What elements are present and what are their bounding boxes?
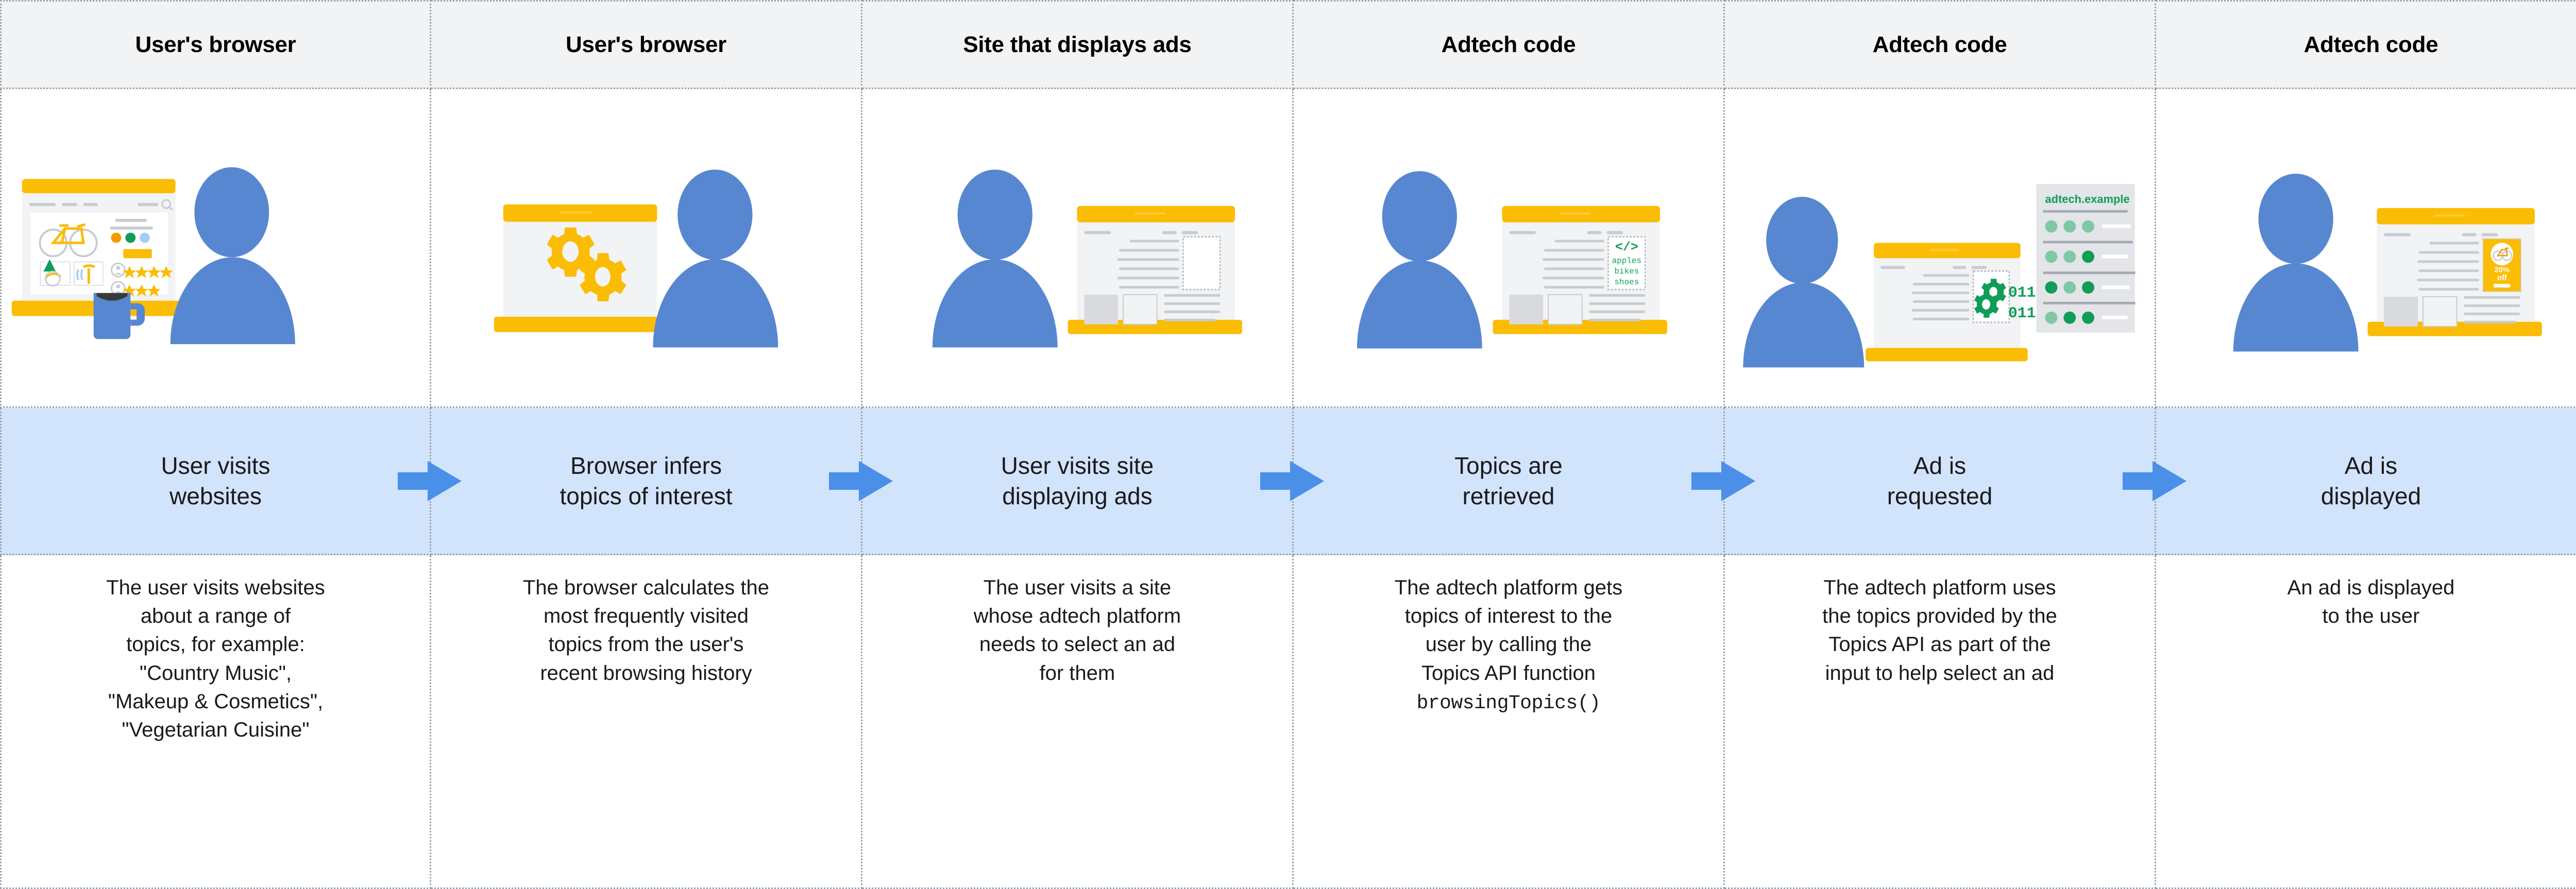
description-cell-step-6: An ad is displayed to the user [2156,555,2576,889]
description-line: whose adtech platform [974,605,1181,627]
band-line: Ad is [1913,452,1966,479]
band-line: topics of interest [560,483,733,509]
ad-headline: 20% [2494,265,2510,274]
header-cell-step-6: Adtech code [2156,0,2576,89]
illustration-cell-step-2 [431,89,862,408]
description-text: The adtech platform gets topics of inter… [1309,574,1708,717]
band-label: User visits site displaying ads [1001,451,1154,511]
band-cell-step-4: Topics are retrieved [1294,408,1725,555]
column-header-label: User's browser [566,32,726,58]
band-label: Ad is displayed [2321,451,2421,511]
description-text: The adtech platform uses the topics prov… [1740,574,2139,688]
description-text: An ad is displayed to the user [2172,574,2570,630]
description-line: most frequently visited [544,605,749,627]
description-line: input to help select an ad [1825,662,2055,685]
band-label: Browser infers topics of interest [560,451,733,511]
column-header-label: Site that displays ads [963,32,1191,58]
band-cell-step-1: User visits websites [0,408,431,555]
header-cell-step-2: User's browser [431,0,862,89]
code-slot-topic: shoes [1615,278,1639,287]
server-panel-title: adtech.example [2045,193,2130,206]
description-line: "Country Music", [140,662,292,685]
description-cell-step-4: The adtech platform gets topics of inter… [1294,555,1725,889]
description-line: the topics provided by the [1822,605,2057,627]
illustration-browser-with-gears-person [431,89,861,406]
description-line: to the user [2322,605,2419,627]
ad-headline: off [2497,273,2507,282]
illustration-person-at-browser-shopping-bicycle [2,89,430,406]
column-header-label: Adtech code [1442,32,1576,58]
header-cell-step-5: Adtech code [1725,0,2156,89]
band-line: Browser infers [570,452,722,479]
description-line: topics, for example: [126,633,305,656]
illustration-cell-step-4: </> apples bikes shoes [1294,89,1725,408]
band-cell-step-6: Ad is displayed [2156,408,2576,555]
band-cell-step-5: Ad is requested [1725,408,2156,555]
code-slot-topic: bikes [1615,267,1639,276]
description-line: "Makeup & Cosmetics", [108,690,323,713]
header-cell-step-1: User's browser [0,0,431,89]
band-line: displayed [2321,483,2421,509]
column-header-label: Adtech code [1873,32,2007,58]
person-silhouette [1743,197,1864,367]
band-label: Ad is requested [1887,451,1993,511]
band-line: Ad is [2345,452,2397,479]
band-line: User visits site [1001,452,1154,479]
description-line: topics from the user's [549,633,744,656]
description-text: The user visits a site whose adtech plat… [878,574,1277,688]
illustration-cell-step-1 [0,89,431,408]
description-line: user by calling the [1426,633,1591,656]
description-line: The browser calculates the [523,576,769,599]
person-silhouette [933,169,1058,347]
band-line: displaying ads [1002,483,1153,509]
description-cell-step-3: The user visits a site whose adtech plat… [862,555,1294,889]
illustration-person-and-article-page-with-empty-ad-slot [862,89,1292,406]
code-slot-topic: apples [1612,256,1641,265]
person-silhouette [2233,174,2359,351]
description-line: An ad is displayed [2287,576,2455,599]
band-cell-step-3: User visits site displaying ads [862,408,1294,555]
description-code: browsingTopics() [1417,692,1601,714]
illustration-person-and-page-with-bicycle-ad-displayed: 20% off [2156,89,2576,406]
description-line: for them [1040,662,1115,685]
adtech-server-panel: adtech.example [2037,184,2136,333]
header-cell-step-3: Site that displays ads [862,0,1294,89]
illustration-cell-step-5: 0110 0111 adtech.example [1725,89,2156,408]
topics-api-flow-diagram: User's browser User's browser Site that … [0,0,2576,889]
description-line: The user visits a site [984,576,1172,599]
description-line: needs to select an ad [979,633,1175,656]
description-line: about a range of [141,605,291,627]
description-cell-step-5: The adtech platform uses the topics prov… [1725,555,2156,889]
band-line: retrieved [1463,483,1555,509]
band-line: User visits [161,452,270,479]
band-line: requested [1887,483,1993,509]
column-header-label: User's browser [135,32,296,58]
band-line: websites [170,483,262,509]
description-cell-step-1: The user visits websites about a range o… [0,555,431,889]
description-line: recent browsing history [540,662,752,685]
description-line: The user visits websites [106,576,325,599]
description-line: The adtech platform gets [1395,576,1622,599]
ad-creative: 20% off [2483,239,2521,292]
illustration-person-page-gears-binary-adtech-server-panel: 0110 0111 adtech.example [1725,89,2155,406]
illustration-person-and-page-with-code-slot-topics: </> apples bikes shoes [1294,89,1723,406]
description-line: Topics API function [1421,662,1596,685]
band-cell-step-2: Browser infers topics of interest [431,408,862,555]
illustration-cell-step-6: 20% off [2156,89,2576,408]
description-line: Topics API as part of the [1828,633,2050,656]
description-text: The browser calculates the most frequent… [447,574,845,688]
person-silhouette [1357,171,1482,348]
illustration-cell-step-3 [862,89,1294,408]
band-label: User visits websites [161,451,270,511]
header-cell-step-4: Adtech code [1294,0,1725,89]
band-label: Topics are retrieved [1454,451,1563,511]
column-header-label: Adtech code [2304,32,2438,58]
description-line: The adtech platform uses [1823,576,2056,599]
description-line: "Vegetarian Cuisine" [122,719,309,741]
description-line: topics of interest to the [1405,605,1612,627]
band-line: Topics are [1454,452,1563,479]
person-silhouette [653,169,778,347]
person-silhouette [171,167,295,345]
code-slot-symbol: </> [1615,240,1638,254]
description-cell-step-2: The browser calculates the most frequent… [431,555,862,889]
description-text: The user visits websites about a range o… [17,574,414,744]
